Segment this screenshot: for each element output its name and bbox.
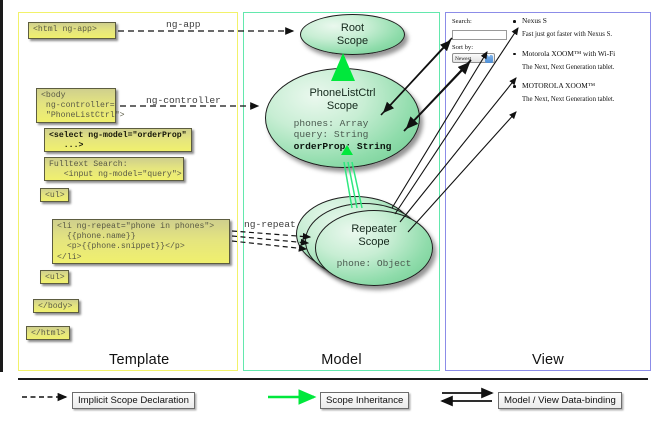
legend-label-inheritance: Scope Inheritance: [320, 392, 409, 409]
code-li-ng-repeat: <li ng-repeat="phone in phones"> {{phone…: [52, 219, 230, 264]
view-search-form: Search: Sort by: Newest ▾: [452, 18, 514, 63]
phonelist-scope-title-line2: Scope: [266, 100, 419, 113]
repeater-scope-title-line2: Scope: [316, 236, 432, 249]
code-html-open: <html ng-app>: [28, 22, 116, 39]
legend-divider: [18, 378, 648, 380]
bullet-icon: [513, 20, 516, 23]
phonelist-scope-props: phones: Array query: String orderProp: S…: [294, 118, 392, 152]
repeater-scope-props: phone: Object: [337, 258, 412, 269]
scope-ellipse-phonelistctrl: PhoneListCtrl Scope phones: Array query:…: [265, 68, 420, 168]
legend-label-databinding: Model / View Data-binding: [498, 392, 622, 409]
label-ng-app: ng-app: [166, 19, 201, 30]
list-item[interactable]: MOTOROLA XOOM™ The Next, Next Generation…: [522, 81, 648, 104]
list-item[interactable]: Motorola XOOM™ with Wi-Fi The Next, Next…: [522, 49, 648, 72]
phonelist-prop-0: phones: Array: [294, 118, 392, 129]
search-label: Search:: [452, 18, 514, 26]
angularjs-scope-diagram: Template Model View <html ng-app> <body …: [0, 0, 661, 425]
phonelist-scope-title-line1: PhoneListCtrl: [266, 87, 419, 100]
phone-name: Nexus S: [522, 16, 648, 25]
phone-snippet: The Next, Next Generation tablet.: [522, 95, 648, 104]
code-ul-open: <ul>: [40, 188, 69, 202]
phone-snippet: Fast just got faster with Nexus S.: [522, 30, 648, 39]
code-select-tag: <select ng-model="orderProp" ...>: [44, 128, 192, 152]
root-scope-title-line2: Scope: [301, 35, 404, 48]
panel-model-label: Model: [244, 352, 439, 368]
code-body-close: </body>: [33, 299, 79, 313]
scope-ellipse-root: Root Scope: [300, 14, 405, 55]
label-ng-controller: ng-controller: [146, 95, 221, 106]
legend-item-databinding: Model / View Data-binding: [498, 390, 622, 409]
sort-select-value: Newest: [455, 56, 471, 62]
list-item[interactable]: Nexus S Fast just got faster with Nexus …: [522, 16, 648, 39]
code-fulltext-search: Fulltext Search: <input ng-model="query"…: [44, 157, 184, 181]
phonelist-prop-2: orderProp: String: [294, 141, 392, 152]
phone-name: MOTOROLA XOOM™: [522, 81, 648, 90]
label-ng-repeat: ng-repeat: [244, 219, 296, 230]
code-body-open: <body ng-controller= "PhoneListCtrl">: [36, 88, 116, 123]
sort-select[interactable]: Newest ▾: [452, 53, 495, 63]
root-scope-title-line1: Root: [301, 22, 404, 35]
phone-name: Motorola XOOM™ with Wi-Fi: [522, 49, 648, 58]
legend-label-implicit: Implicit Scope Declaration: [72, 392, 195, 409]
panel-view-label: View: [446, 352, 650, 368]
legend-item-implicit: Implicit Scope Declaration: [72, 390, 195, 409]
code-ul-close: <ul>: [40, 270, 69, 284]
panel-model: Model: [243, 12, 440, 371]
phonelist-prop-1: query: String: [294, 129, 392, 140]
sort-label: Sort by:: [452, 44, 514, 52]
bullet-icon: [513, 53, 516, 56]
chevron-updown-icon: ▾: [485, 55, 493, 63]
code-html-close: </html>: [26, 326, 70, 340]
repeater-scope-title-line1: Repeater: [316, 223, 432, 236]
scope-ellipse-repeater: Repeater Scope phone: Object: [315, 210, 433, 286]
bullet-icon: [513, 85, 516, 88]
search-input[interactable]: [452, 30, 507, 40]
figure-left-edge: [0, 0, 3, 372]
phone-list: Nexus S Fast just got faster with Nexus …: [522, 16, 648, 114]
legend-item-inheritance: Scope Inheritance: [320, 390, 409, 409]
phone-snippet: The Next, Next Generation tablet.: [522, 63, 648, 72]
